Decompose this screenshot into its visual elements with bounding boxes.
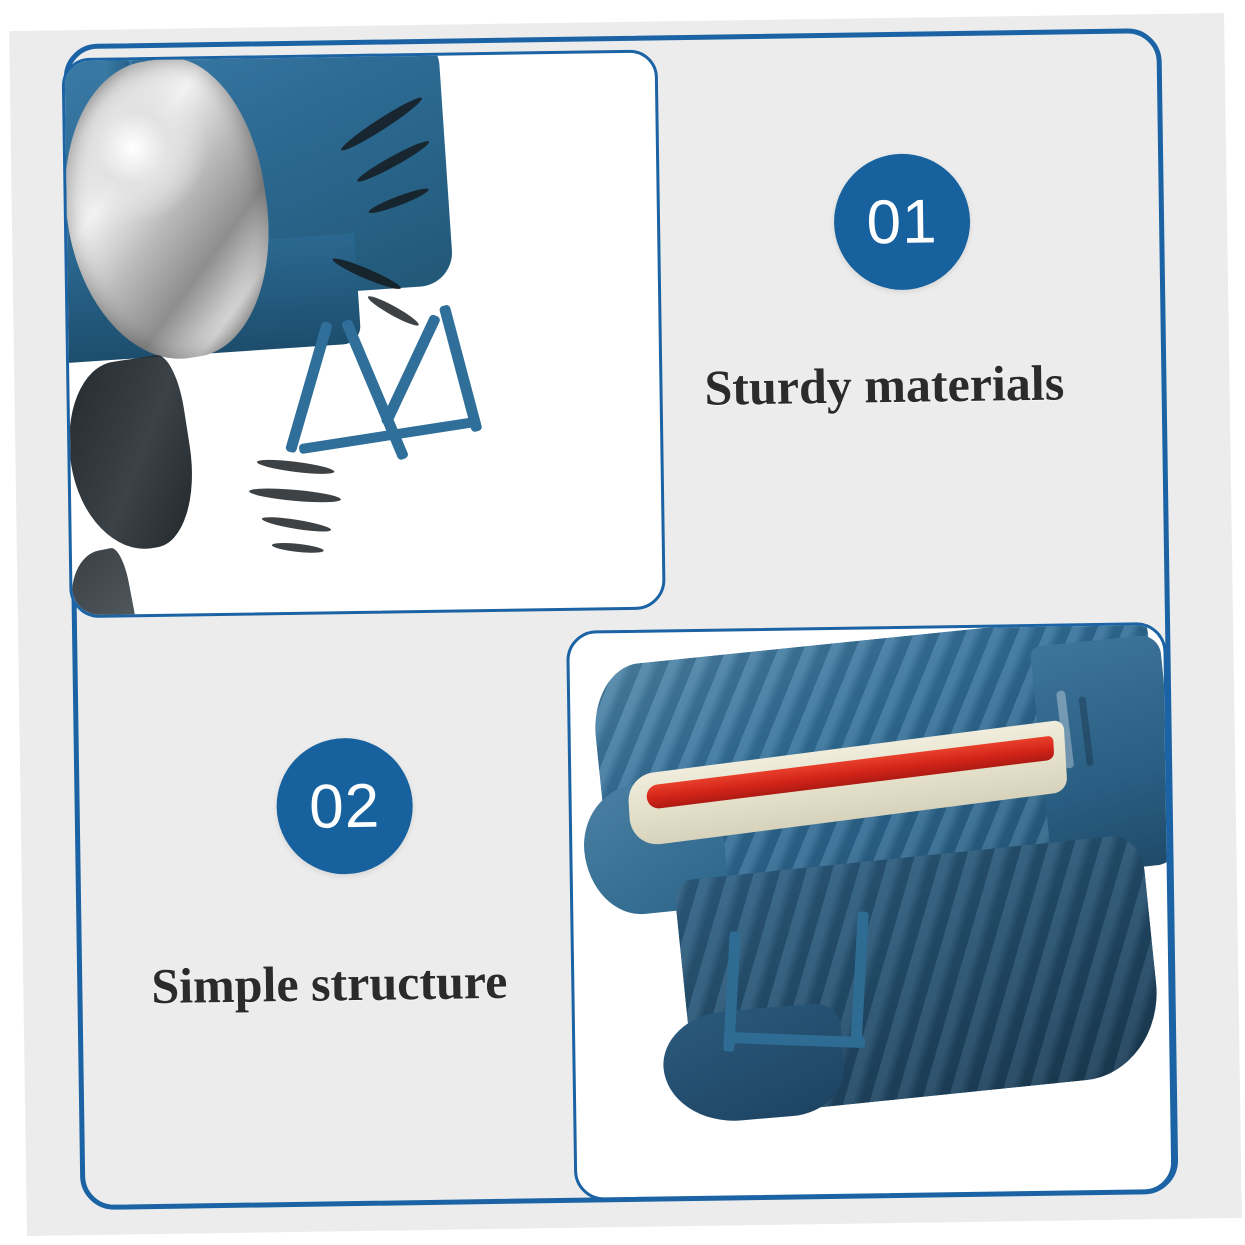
biplane-wings-photo bbox=[569, 625, 1171, 1198]
feature-caption-01: Sturdy materials bbox=[704, 353, 1065, 416]
feature-photo-panel-02 bbox=[566, 622, 1174, 1201]
landing-gear-strut bbox=[380, 314, 441, 427]
wheel-scratch-mark bbox=[272, 541, 325, 555]
cowl-scratch-mark bbox=[366, 293, 421, 329]
infographic-sheet: 01 Sturdy materials 02 Simple structure bbox=[9, 13, 1242, 1236]
engine-cowl-top-shadow-shape bbox=[63, 546, 143, 618]
wheel-scratch-mark bbox=[261, 514, 332, 534]
infographic-canvas: 01 Sturdy materials 02 Simple structure bbox=[0, 0, 1245, 1245]
feature-photo-panel-01 bbox=[62, 49, 666, 618]
biplane-nose-photo bbox=[65, 53, 663, 616]
wheel-scratch-mark bbox=[249, 486, 342, 505]
landing-gear-strut bbox=[439, 304, 483, 432]
feature-caption-02: Simple structure bbox=[151, 952, 508, 1015]
engine-cowl-shadow-shape bbox=[62, 352, 205, 558]
wheel-scratch-mark bbox=[256, 457, 335, 477]
